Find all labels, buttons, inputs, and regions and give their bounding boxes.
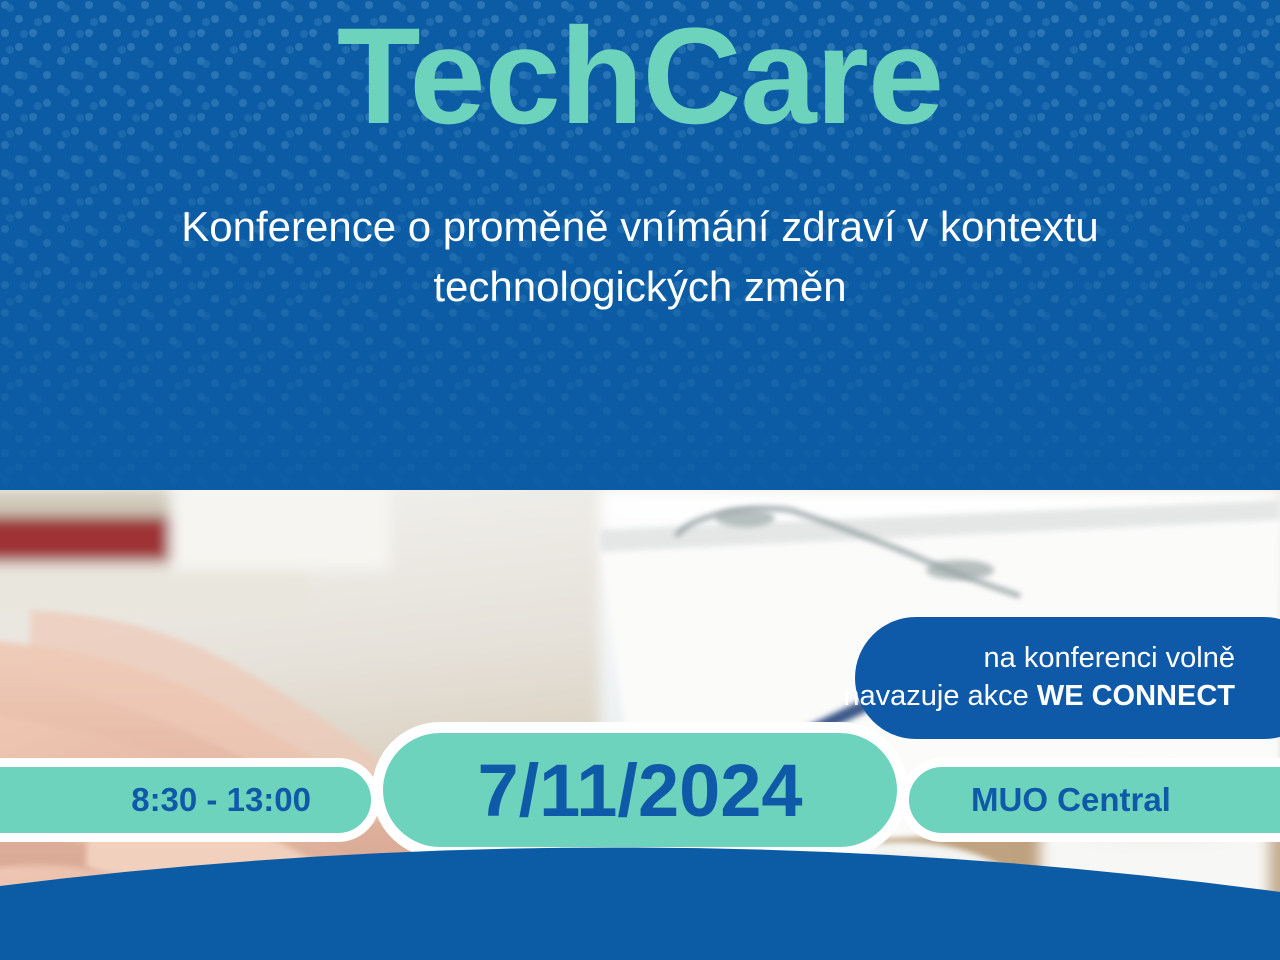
event-venue: MUO Central	[971, 781, 1171, 819]
conference-poster: TechCare Konference o proměně vnímání zd…	[0, 0, 1280, 960]
subtitle-line-1: Konference o proměně vnímání zdraví v ko…	[140, 197, 1140, 257]
follow-up-event-callout: na konferenci volně navazuje akce WE CON…	[855, 617, 1280, 739]
event-info-bar: 8:30 - 13:00 MUO Central 7/11/2024	[0, 360, 1280, 510]
poster-subtitle: Konference o proměně vnímání zdraví v ko…	[140, 197, 1140, 316]
event-date-pill: 7/11/2024	[372, 722, 908, 858]
event-venue-pill: MUO Central	[900, 758, 1280, 842]
poster-title: TechCare	[0, 8, 1280, 145]
callout-event-name: WE CONNECT	[1037, 680, 1235, 712]
event-time: 8:30 - 13:00	[131, 781, 311, 819]
callout-line-2: navazuje akce WE CONNECT	[843, 678, 1235, 716]
callout-line-2-prefix: navazuje akce	[843, 680, 1036, 712]
event-time-pill: 8:30 - 13:00	[0, 758, 380, 842]
callout-line-1: na konferenci volně	[984, 640, 1236, 678]
event-date: 7/11/2024	[477, 748, 802, 833]
subtitle-line-2: technologických změn	[140, 257, 1140, 317]
